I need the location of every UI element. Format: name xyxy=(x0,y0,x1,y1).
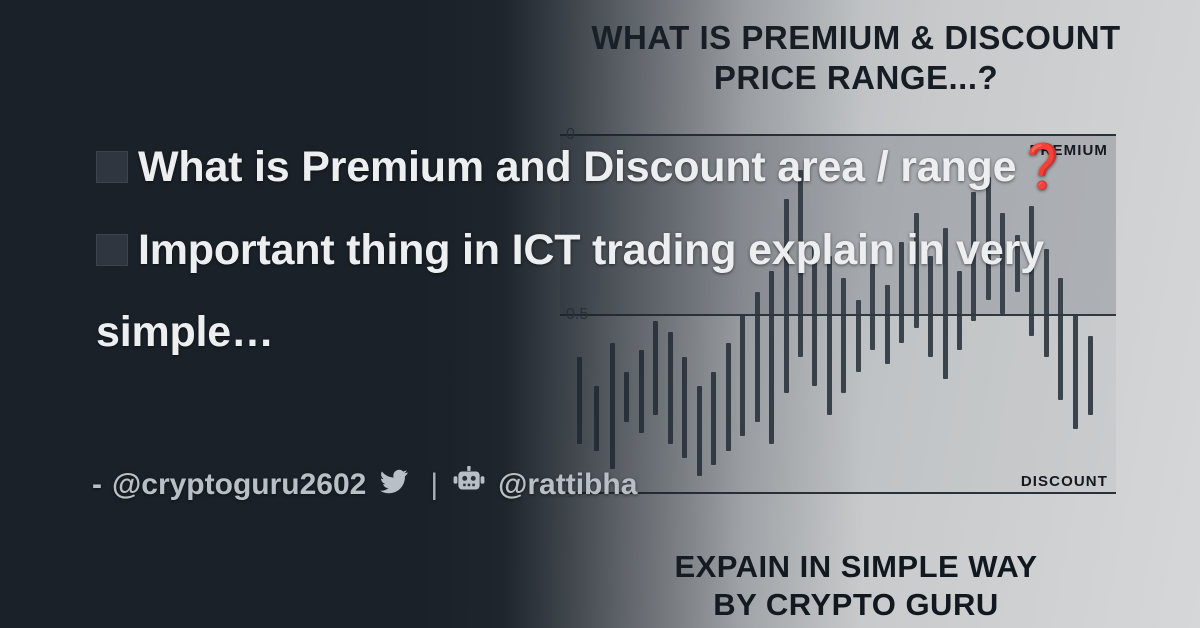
attribution-line: - @cryptoguru2602 | xyxy=(92,466,637,504)
source-handle[interactable]: @rattibha xyxy=(498,468,637,502)
tweet-body-text: What is Premium and Discount area / rang… xyxy=(96,126,1106,374)
question-mark-emoji-icon: ❓ xyxy=(1016,143,1069,191)
author-handle[interactable]: @cryptoguru2602 xyxy=(112,468,366,502)
tweet-line2-b: Important thing in xyxy=(138,226,500,274)
tweet-image-card: WHAT IS PREMIUM & DISCOUNT PRICE RANGE..… xyxy=(0,0,1200,628)
twitter-bird-icon xyxy=(378,467,410,503)
tweet-line2-a: area / range xyxy=(777,143,1016,191)
emoji-placeholder-icon-2 xyxy=(96,234,128,266)
attribution-dash: - xyxy=(92,468,102,502)
tweet-overlay: What is Premium and Discount area / rang… xyxy=(0,0,1200,628)
robot-icon xyxy=(452,466,486,504)
emoji-placeholder-icon xyxy=(96,151,128,183)
attribution-separator: | xyxy=(430,468,438,502)
tweet-line1: What is Premium and Discount xyxy=(138,143,766,191)
